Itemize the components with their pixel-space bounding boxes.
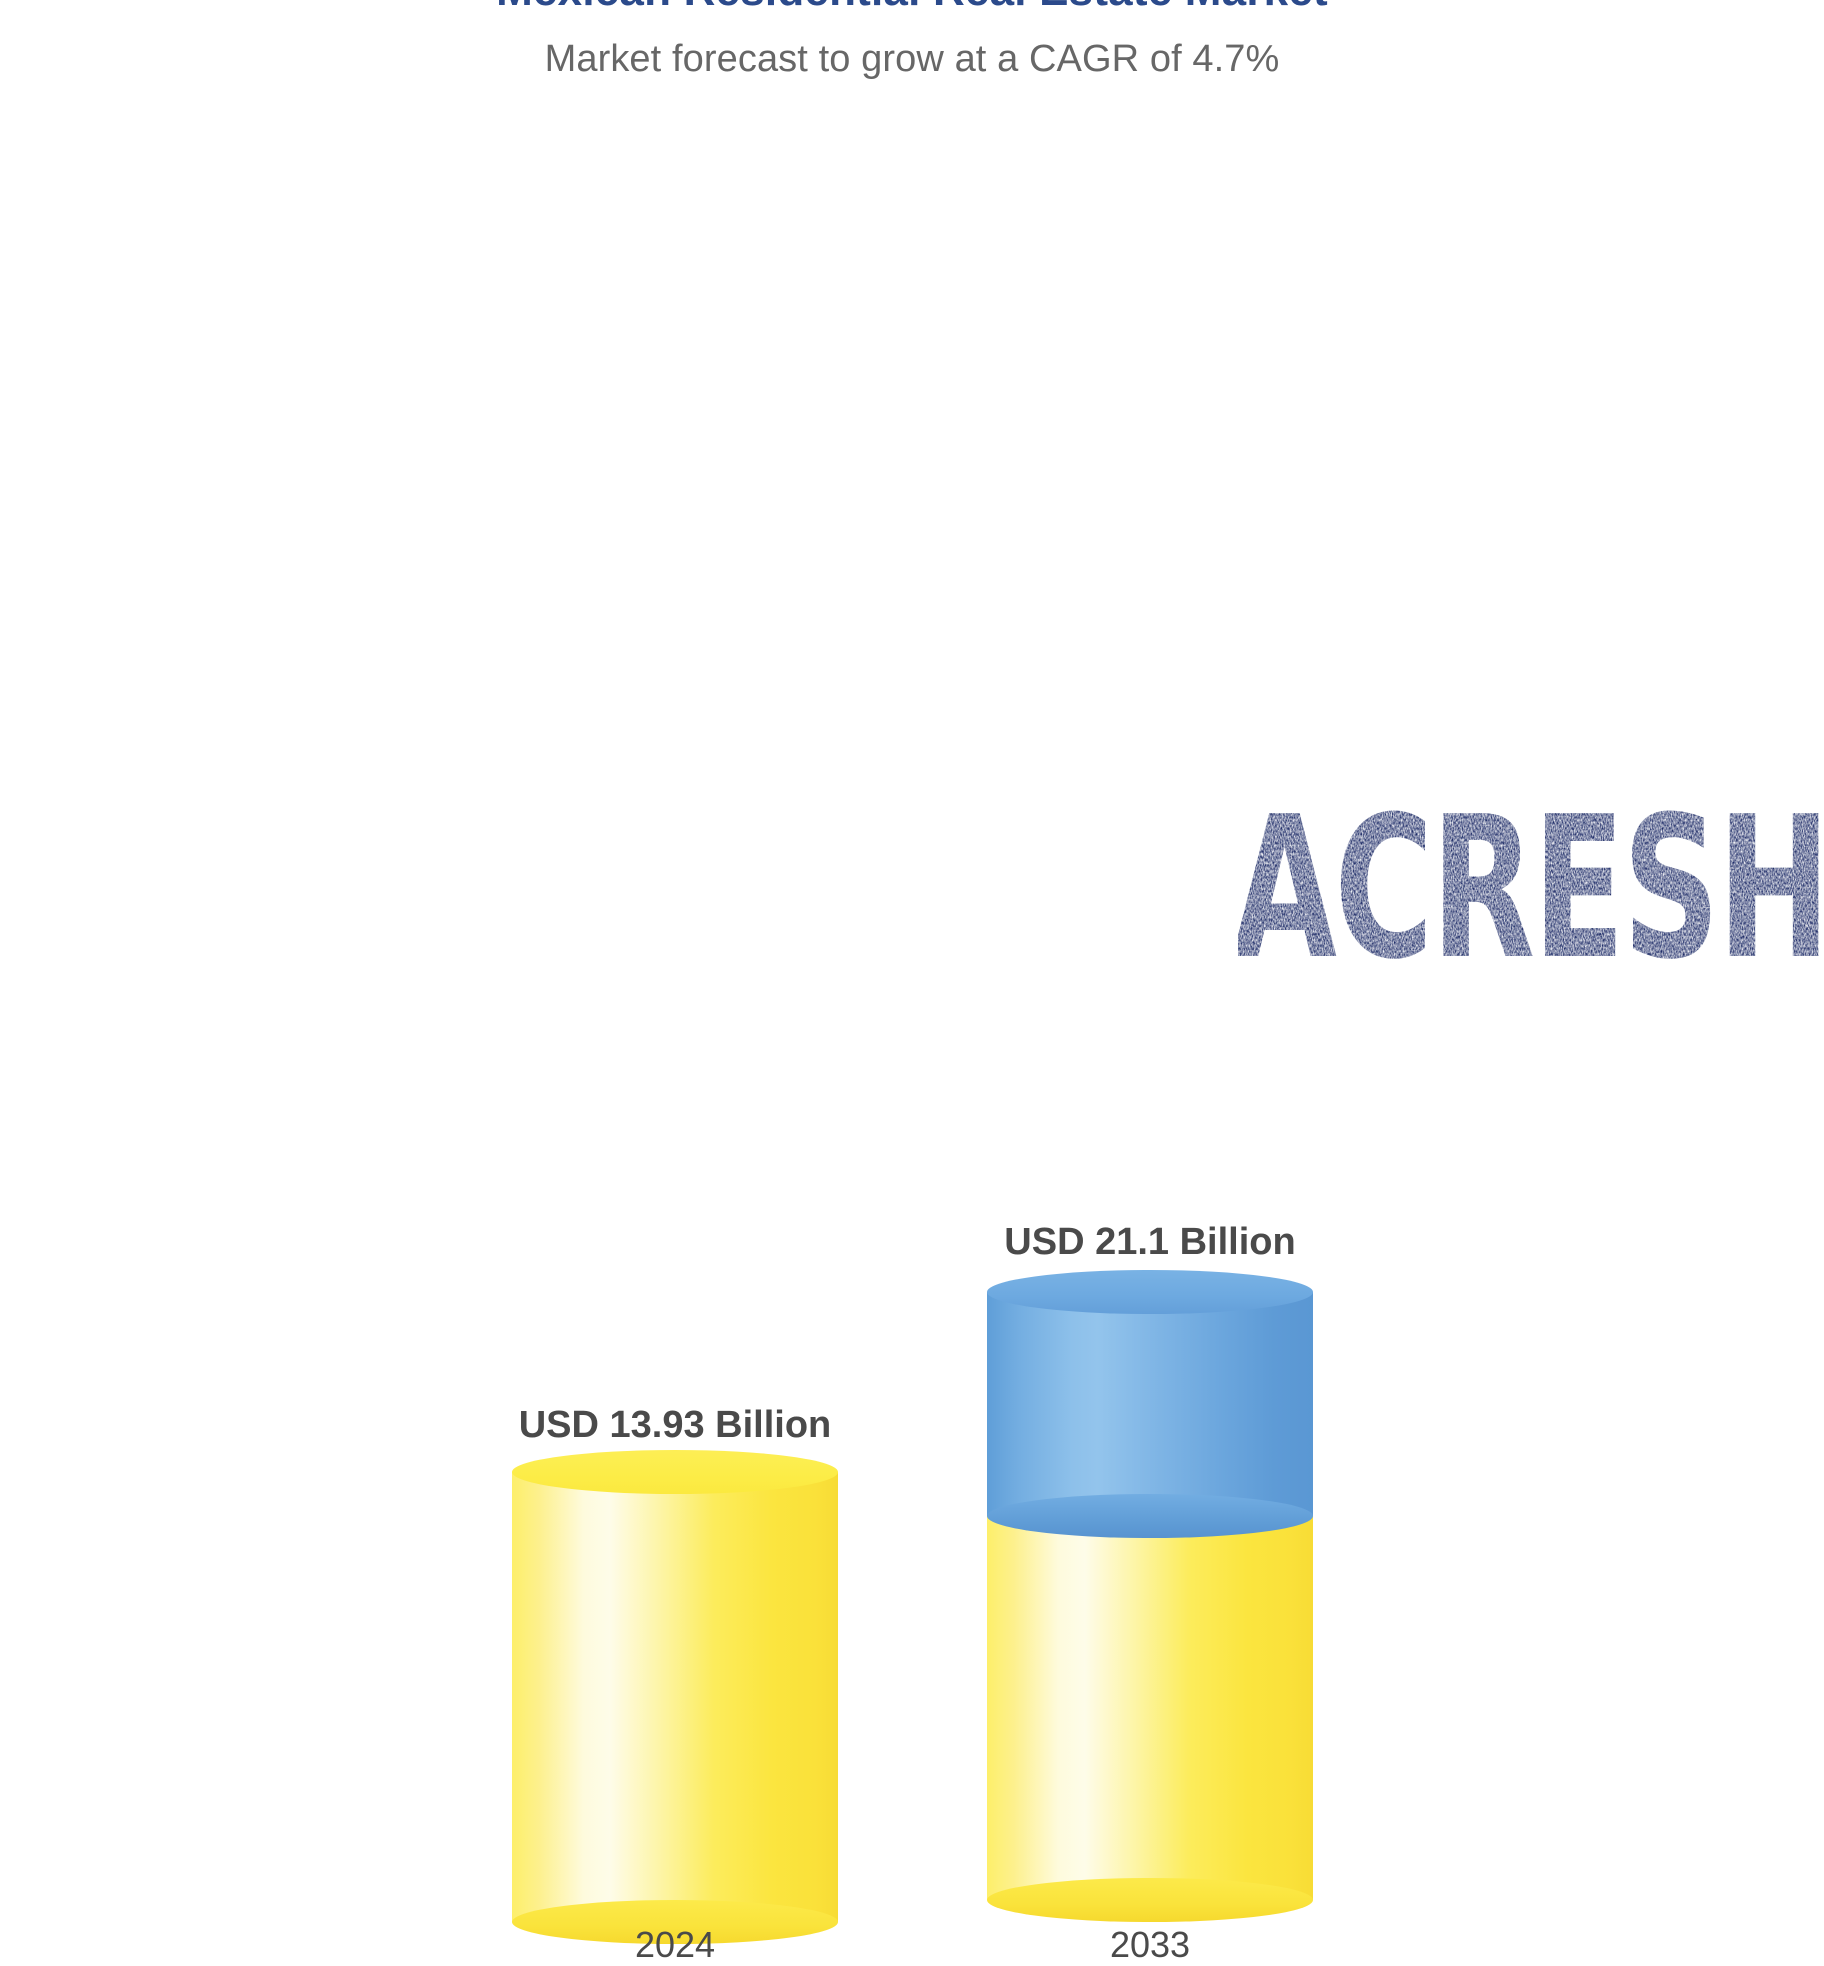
cylinder-2024-top-cap: [512, 1450, 838, 1494]
value-label-2024: USD 13.93 Billion: [430, 1404, 920, 1447]
cylinder-2033-body-blue: [987, 1292, 1313, 1516]
cylinder-2033-body-yellow: [987, 1516, 1313, 1900]
acresh-watermark-text: ACRESH: [1238, 775, 1824, 992]
cylinder-2033[interactable]: [987, 1270, 1313, 1922]
cylinder-2033-top-cap: [987, 1270, 1313, 1314]
cylinder-2033-bottom-cap: [987, 1878, 1313, 1922]
cylinder-2033-seam-cap: [987, 1494, 1313, 1538]
year-label-2033: 2033: [905, 1924, 1395, 1966]
acresh-watermark: ACRESH: [1238, 742, 1824, 992]
chart-canvas: Mexican Residential Real Estate Market M…: [0, 0, 1824, 1026]
chart-subtitle: Market forecast to grow at a CAGR of 4.7…: [0, 38, 1824, 81]
cylinder-2024-body-yellow: [512, 1472, 838, 1922]
value-label-2033: USD 21.1 Billion: [905, 1221, 1395, 1264]
cylinder-2024[interactable]: [512, 1450, 838, 1922]
chart-title: Mexican Residential Real Estate Market: [0, 0, 1824, 16]
year-label-2024: 2024: [430, 1924, 920, 1966]
